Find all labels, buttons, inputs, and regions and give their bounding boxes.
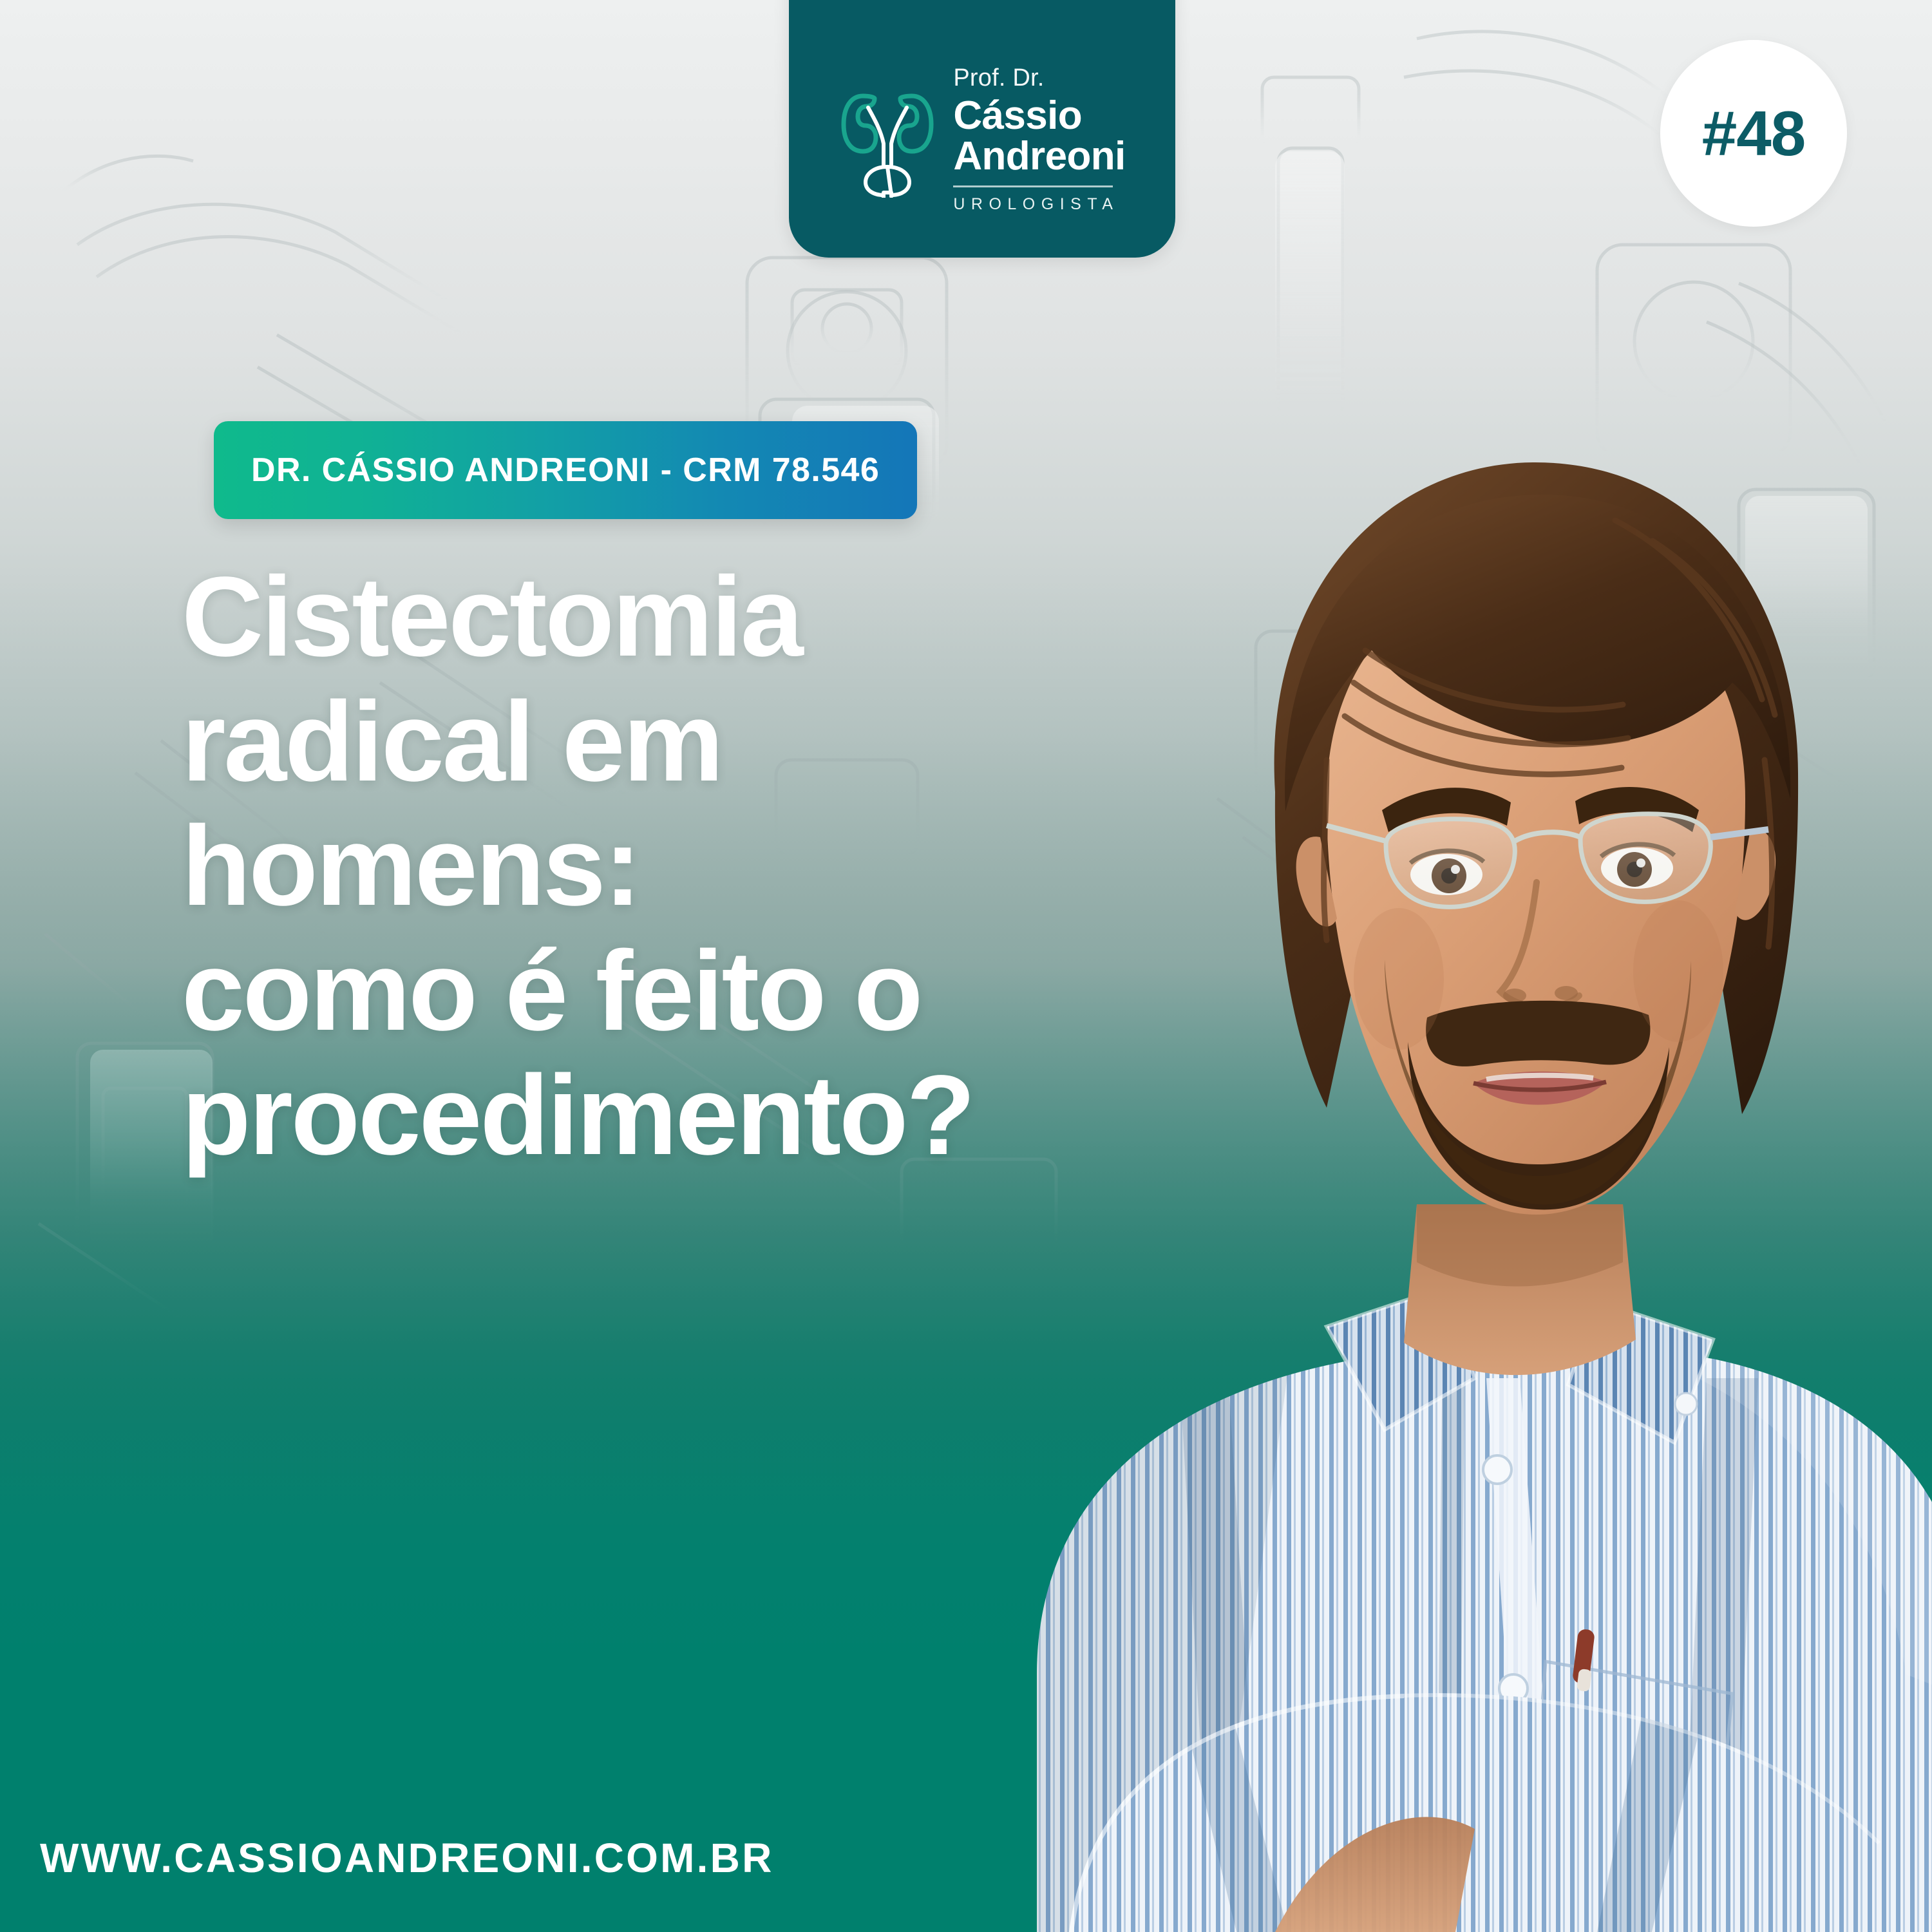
headline-line-5: procedimento? — [182, 1054, 1225, 1179]
headline-line-1: Cistectomia — [182, 555, 1225, 680]
website-url-label: WWW.CASSIOANDREONI.COM.BR — [40, 1835, 774, 1881]
brand-logo-plate: Prof. Dr. Cássio Andreoni UROLOGISTA — [789, 0, 1175, 258]
logo-last-name: Andreoni — [953, 136, 1125, 176]
headline-line-2: radical em — [182, 680, 1225, 805]
page-title: Cistectomia radical em homens: como é fe… — [182, 555, 1225, 1179]
kidneys-ureters-bladder-icon — [838, 82, 936, 198]
logo-specialty: UROLOGISTA — [953, 195, 1119, 214]
headline-line-3: homens: — [182, 804, 1225, 929]
headline-line-4: como é feito o — [182, 929, 1225, 1054]
episode-number-badge: #48 — [1660, 40, 1847, 227]
logo-first-name: Cássio — [953, 95, 1082, 136]
logo-divider — [953, 185, 1113, 187]
doctor-credential-label: DR. CÁSSIO ANDREONI - CRM 78.546 — [251, 451, 880, 489]
social-card: Prof. Dr. Cássio Andreoni UROLOGISTA #48… — [0, 0, 1932, 1932]
logo-prefix: Prof. Dr. — [953, 66, 1044, 90]
episode-number-label: #48 — [1702, 97, 1806, 170]
website-url[interactable]: WWW.CASSIOANDREONI.COM.BR — [40, 1834, 774, 1882]
doctor-credential-pill: DR. CÁSSIO ANDREONI - CRM 78.546 — [214, 421, 917, 519]
